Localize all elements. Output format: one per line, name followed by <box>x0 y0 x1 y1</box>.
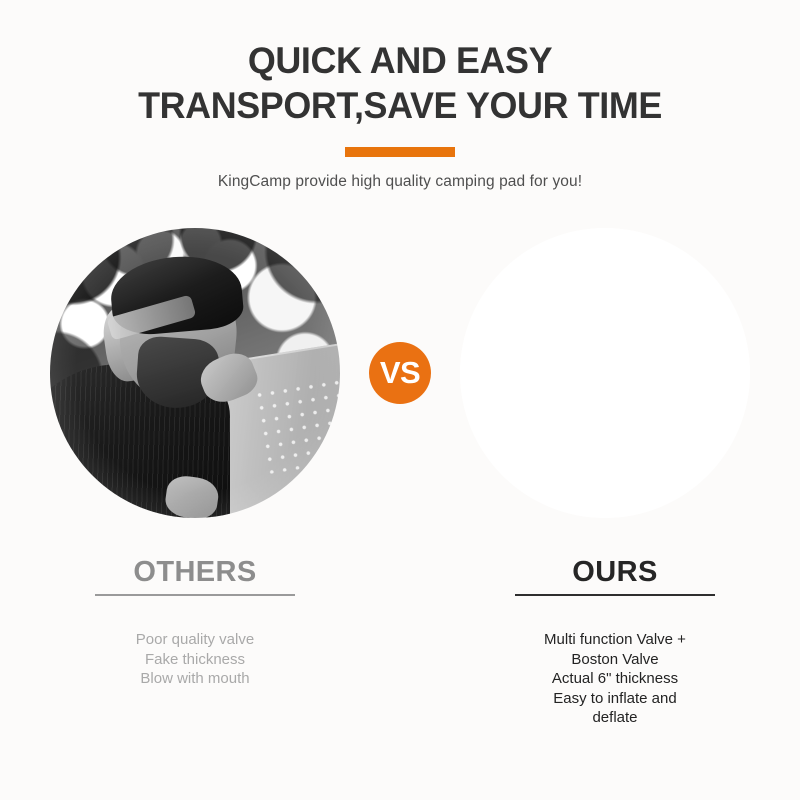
others-label: OTHERS <box>95 556 295 596</box>
pump-scene: King <box>460 228 750 518</box>
others-photo-art <box>50 228 340 518</box>
headline-line-1: QUICK AND EASY <box>12 38 788 83</box>
list-item: Poor quality valve <box>75 630 315 650</box>
others-photo <box>50 228 340 518</box>
list-item: Actual 6" thickness <box>485 669 745 689</box>
list-item: Boston Valve <box>485 650 745 670</box>
ours-photo: King <box>460 228 750 518</box>
orange-divider-bar <box>345 147 455 157</box>
list-item: Easy to inflate and <box>485 689 745 709</box>
camping-pad-blue: King <box>460 245 680 518</box>
page-title: QUICK AND EASY TRANSPORT,SAVE YOUR TIME <box>12 0 788 128</box>
list-item: Blow with mouth <box>75 669 315 689</box>
list-item: Fake thickness <box>75 650 315 670</box>
others-feature-list: Poor quality valve Fake thickness Blow w… <box>75 630 315 689</box>
bw-scene <box>50 228 340 518</box>
subtitle: KingCamp provide high quality camping pa… <box>0 154 800 191</box>
headline-line-2: TRANSPORT,SAVE YOUR TIME <box>12 83 788 128</box>
ours-feature-list: Multi function Valve + Boston Valve Actu… <box>485 630 745 728</box>
divider-wrap <box>0 144 800 154</box>
header: QUICK AND EASY TRANSPORT,SAVE YOUR TIME … <box>0 0 800 191</box>
vs-badge: VS <box>369 342 431 404</box>
photo-vignette <box>50 228 340 518</box>
comparison-row: VS King <box>0 228 800 520</box>
kingcamp-brand-text: King <box>460 245 680 263</box>
column-labels: OTHERS OURS <box>0 556 800 604</box>
ours-photo-art: King <box>460 228 750 518</box>
ours-label: OURS <box>515 556 715 596</box>
list-item: deflate <box>485 708 745 728</box>
list-item: Multi function Valve + <box>485 630 745 650</box>
